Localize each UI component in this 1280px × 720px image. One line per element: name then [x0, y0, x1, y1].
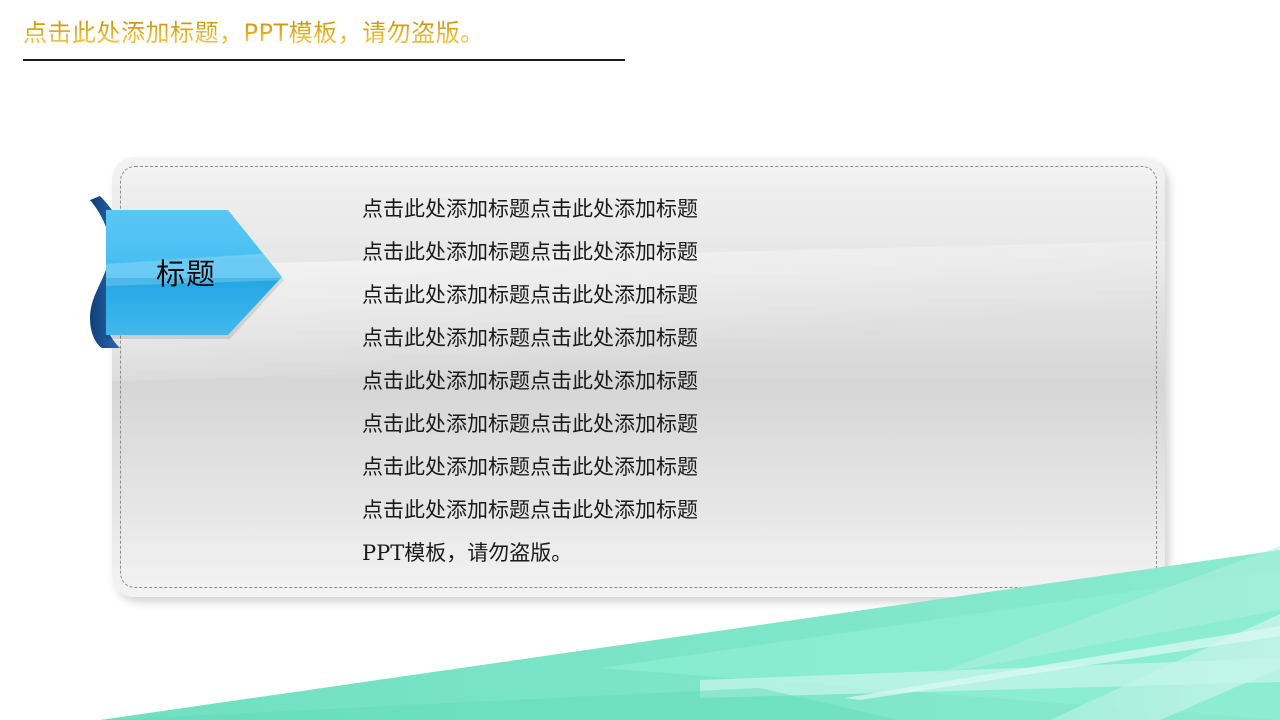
- body-text-line: 点击此处添加标题点击此处添加标题: [362, 231, 1062, 274]
- slide-canvas: 点击此处添加标题，PPT模板，请勿盗版。 点击此处添加标题点击此处添加标题 点击…: [0, 0, 1280, 720]
- body-text-line: 点击此处添加标题点击此处添加标题: [362, 403, 1062, 446]
- body-text-block: 点击此处添加标题点击此处添加标题 点击此处添加标题点击此处添加标题 点击此处添加…: [362, 188, 1062, 575]
- body-text-line: 点击此处添加标题点击此处添加标题: [362, 274, 1062, 317]
- wave-band-light: [700, 658, 1280, 698]
- body-text-line: 点击此处添加标题点击此处添加标题: [362, 188, 1062, 231]
- banner-label: 标题: [106, 196, 266, 348]
- title-underline-rule: [23, 59, 625, 61]
- section-banner[interactable]: 标题: [88, 196, 288, 348]
- wave-band-pale: [1050, 614, 1280, 720]
- body-text-line: 点击此处添加标题点击此处添加标题: [362, 360, 1062, 403]
- wave-streak: [845, 626, 1280, 700]
- body-text-line: PPT模板，请勿盗版。: [362, 532, 1062, 575]
- body-text-line: 点击此处添加标题点击此处添加标题: [362, 489, 1062, 532]
- page-title: 点击此处添加标题，PPT模板，请勿盗版。: [23, 17, 485, 49]
- body-text-line: 点击此处添加标题点击此处添加标题: [362, 317, 1062, 360]
- body-text-line: 点击此处添加标题点击此处添加标题: [362, 446, 1062, 489]
- wave-band-lower: [100, 688, 900, 720]
